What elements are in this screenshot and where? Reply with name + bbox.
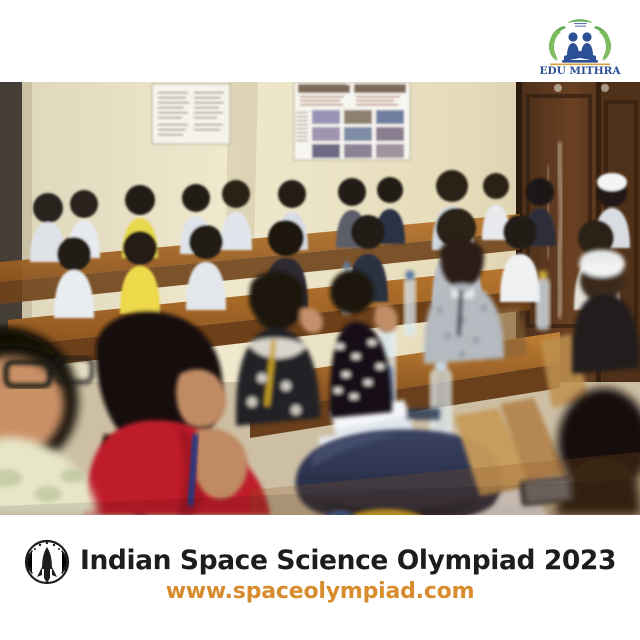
footer-bar: Indian Space Science Olympiad 2023 www.s… bbox=[0, 515, 640, 640]
wall-notice-board bbox=[152, 84, 230, 144]
edu-mithra-logo[interactable]: EDU MITHRA bbox=[534, 6, 626, 76]
event-photograph bbox=[0, 82, 640, 515]
results-poster bbox=[294, 82, 410, 160]
poster-card: EDU MITHRA bbox=[0, 0, 640, 640]
event-title: Indian Space Science Olympiad 2023 bbox=[80, 548, 616, 575]
event-website-url[interactable]: www.spaceolympiad.com bbox=[0, 581, 640, 603]
logo-text: EDU MITHRA bbox=[539, 65, 621, 76]
isro-rocket-emblem bbox=[24, 537, 70, 585]
header-bar: EDU MITHRA bbox=[0, 0, 640, 82]
event-title-row: Indian Space Science Olympiad 2023 bbox=[0, 537, 640, 585]
